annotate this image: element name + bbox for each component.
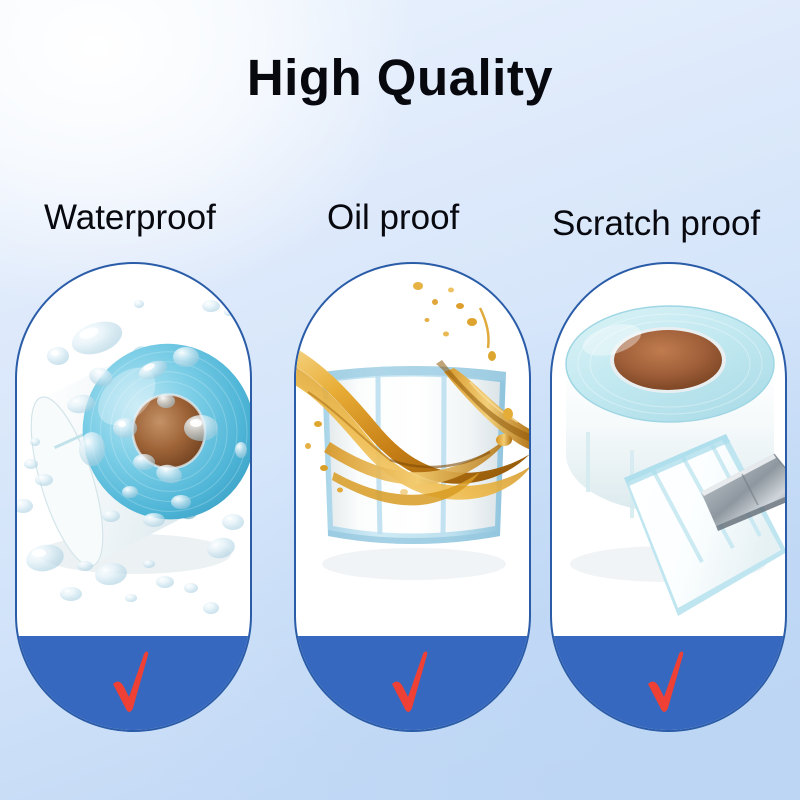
oil-proof-check-footer [294, 636, 531, 732]
red-checkmark-icon [383, 644, 443, 716]
red-checkmark-icon [639, 644, 699, 716]
feature-card-waterproof[interactable] [15, 262, 252, 732]
scratch-proof-illustration [552, 264, 785, 640]
page-title: High Quality [0, 48, 800, 107]
waterproof-illustration [17, 264, 250, 640]
feature-label-oil-proof: Oil proof [327, 198, 459, 238]
red-checkmark-icon [104, 644, 164, 716]
scratch-proof-check-footer [550, 636, 787, 732]
oil-proof-illustration [296, 264, 529, 640]
waterproof-check-footer [15, 636, 252, 732]
feature-label-waterproof: Waterproof [44, 198, 216, 238]
feature-card-oil-proof[interactable] [294, 262, 531, 732]
feature-label-scratch-proof: Scratch proof [552, 204, 760, 244]
feature-card-scratch-proof[interactable] [550, 262, 787, 732]
